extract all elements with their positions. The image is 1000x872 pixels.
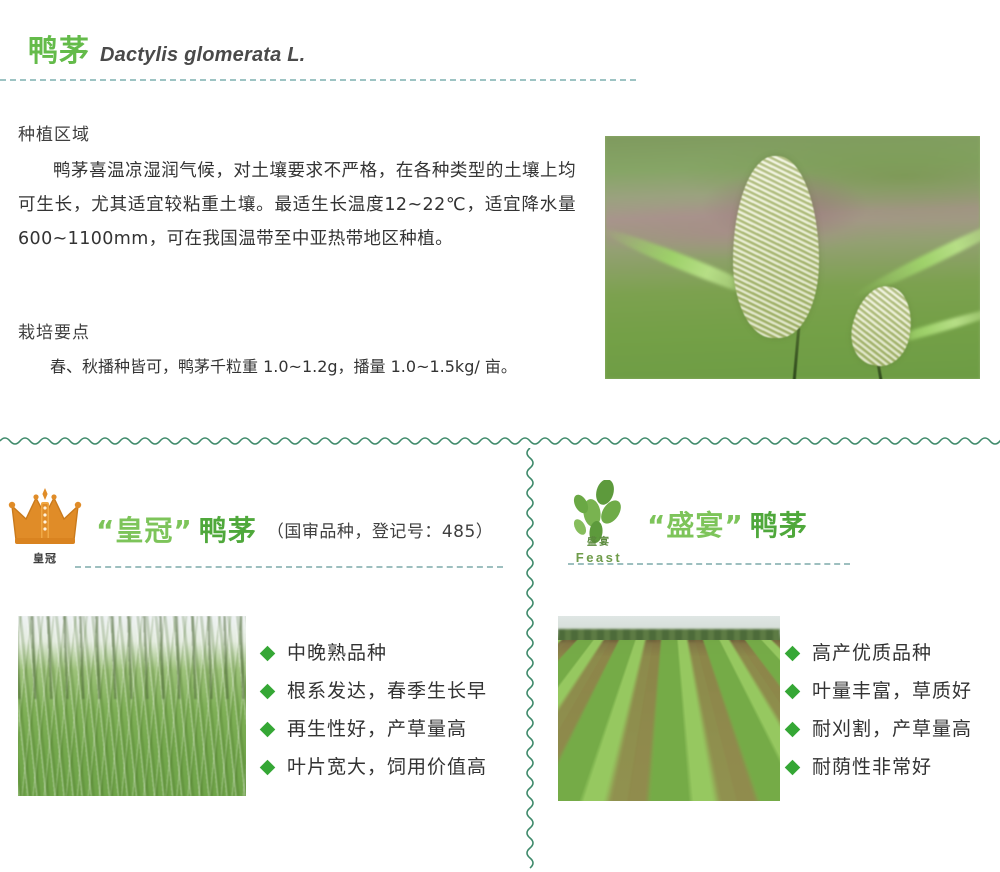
diamond-bullet-icon [785, 721, 801, 737]
crown-dashed-rule [75, 566, 503, 568]
feast-dashed-rule [568, 563, 850, 565]
cultivation-heading: 栽培要点 [18, 318, 90, 343]
crown-logo: 皇冠 [8, 488, 82, 570]
list-item: 耐刈割，产草量高 [787, 710, 972, 748]
list-item-label: 高产优质品种 [812, 634, 932, 672]
feast-logo-label-cn: 盛宴 [565, 533, 633, 548]
header-dashed-rule [0, 79, 636, 81]
list-item-label: 根系发达，春季生长早 [287, 672, 487, 710]
variety-panel-crown: 皇冠 “皇冠”鸭茅 （国审品种，登记号：485） 中晚熟品种 根系发达，春季生长… [0, 448, 523, 872]
feast-field-photo [558, 616, 780, 801]
crown-field-photo [18, 616, 246, 796]
diamond-bullet-icon [260, 683, 276, 699]
page-title-latin: Dactylis glomerata L. [100, 44, 305, 67]
crown-brand-kind: 鸭茅 [199, 514, 257, 547]
photo-crop-rows [558, 640, 780, 801]
crown-brand-note: （国审品种，登记号：485） [267, 517, 493, 542]
seed-head-photo [605, 136, 980, 379]
crown-feature-list: 中晚熟品种 根系发达，春季生长早 再生性好，产草量高 叶片宽大，饲用价值高 [262, 634, 487, 786]
list-item: 叶量丰富，草质好 [787, 672, 972, 710]
crown-icon [8, 488, 82, 554]
list-item: 中晚熟品种 [262, 634, 487, 672]
list-item-label: 中晚熟品种 [287, 634, 387, 672]
diamond-bullet-icon [785, 645, 801, 661]
list-item: 再生性好，产草量高 [262, 710, 487, 748]
list-item: 耐荫性非常好 [787, 748, 972, 786]
diamond-bullet-icon [785, 683, 801, 699]
page-root: 鸭茅 Dactylis glomerata L. 种植区域 鸭茅喜温凉湿润气候，… [0, 0, 1000, 872]
list-item: 根系发达，春季生长早 [262, 672, 487, 710]
crown-brand-row: 皇冠 “皇冠”鸭茅 （国审品种，登记号：485） [8, 488, 493, 570]
feast-brand-title: “盛宴”鸭茅 [647, 504, 808, 544]
feast-brand-row: 盛宴 Feast “盛宴”鸭茅 [565, 480, 808, 568]
list-item: 叶片宽大，饲用价值高 [262, 748, 487, 786]
page-title-cn: 鸭茅 [28, 26, 90, 70]
diamond-bullet-icon [785, 759, 801, 775]
crown-brand-title: “皇冠”鸭茅 [96, 509, 257, 549]
region-paragraph: 鸭茅喜温凉湿润气候，对土壤要求不严格，在各种类型的土壤上均可生长，尤其适宜较粘重… [18, 154, 576, 256]
diamond-bullet-icon [260, 721, 276, 737]
horizontal-wave-divider [0, 434, 1000, 448]
photo-seedhead-band [18, 616, 246, 699]
page-header: 鸭茅 Dactylis glomerata L. [0, 0, 1000, 90]
crown-logo-label: 皇冠 [8, 550, 82, 566]
variety-panel-feast: 盛宴 Feast “盛宴”鸭茅 高产优质品种 叶量丰富，草质好 [537, 448, 1000, 872]
list-item: 高产优质品种 [787, 634, 972, 672]
list-item-label: 耐刈割，产草量高 [812, 710, 972, 748]
crown-brand-quoted: “皇冠” [96, 514, 193, 547]
diamond-bullet-icon [260, 645, 276, 661]
feast-logo: 盛宴 Feast [565, 480, 633, 568]
feast-feature-list: 高产优质品种 叶量丰富，草质好 耐刈割，产草量高 耐荫性非常好 [787, 634, 972, 786]
diamond-bullet-icon [260, 759, 276, 775]
planting-section: 种植区域 鸭茅喜温凉湿润气候，对土壤要求不严格，在各种类型的土壤上均可生长，尤其… [0, 90, 1000, 435]
region-heading: 种植区域 [18, 120, 90, 145]
feast-brand-quoted: “盛宴” [647, 509, 744, 542]
cultivation-paragraph: 春、秋播种皆可，鸭茅千粒重 1.0~1.2g，播量 1.0~1.5kg/ 亩。 [18, 352, 576, 382]
vertical-wave-divider [523, 448, 537, 872]
list-item-label: 耐荫性非常好 [812, 748, 932, 786]
list-item-label: 叶量丰富，草质好 [812, 672, 972, 710]
feast-brand-kind: 鸭茅 [750, 509, 808, 542]
page-title: 鸭茅 Dactylis glomerata L. [28, 26, 305, 70]
list-item-label: 叶片宽大，饲用价值高 [287, 748, 487, 786]
list-item-label: 再生性好，产草量高 [287, 710, 467, 748]
